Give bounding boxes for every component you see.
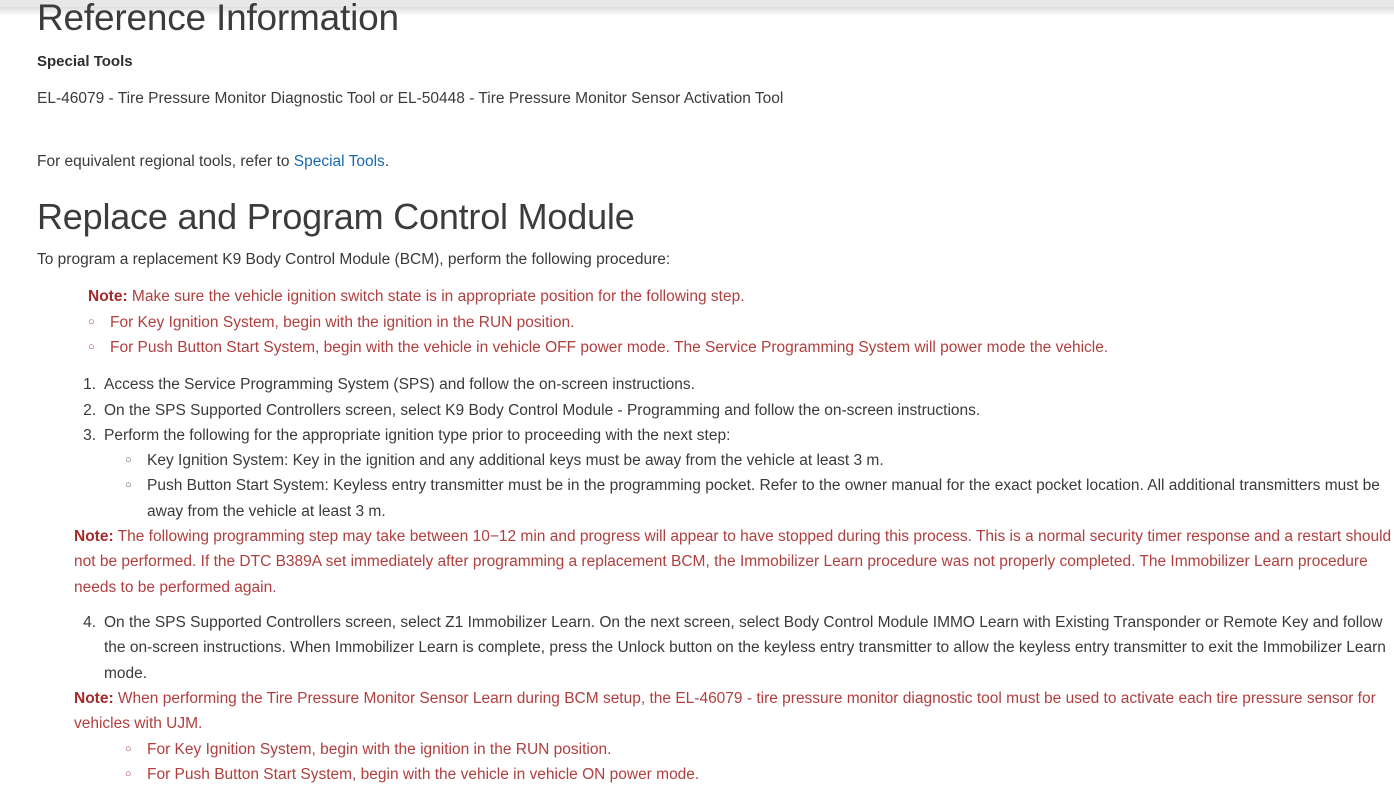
preamble-note-bullet-1: For Push Button Start System, begin with… [110, 339, 1108, 356]
preamble-note-bullet-0: For Key Ignition System, begin with the … [110, 314, 574, 331]
note-label: Note: [74, 528, 114, 545]
preamble-note-bullet-list: For Key Ignition System, begin with the … [37, 310, 1394, 361]
procedure-step-3: Perform the following for the appropriat… [74, 423, 1394, 600]
step-2-text: On the SPS Supported Controllers screen,… [104, 402, 980, 419]
document-content: Reference Information Special Tools EL-4… [0, 0, 1394, 787]
spacer [37, 111, 1394, 149]
step-4-text: On the SPS Supported Controllers screen,… [104, 614, 1386, 682]
note-label: Note: [88, 288, 128, 305]
step-3-text: Perform the following for the appropriat… [104, 427, 730, 444]
special-tools-link[interactable]: Special Tools [294, 153, 385, 170]
list-item: Push Button Start System: Keyless entry … [125, 473, 1394, 524]
equivalent-tools-suffix: . [385, 153, 389, 170]
step-4-note-bullet-0: For Key Ignition System, begin with the … [147, 741, 611, 758]
preamble-note-text: Make sure the vehicle ignition switch st… [132, 288, 745, 305]
preamble-note: Note: Make sure the vehicle ignition swi… [88, 284, 1394, 309]
list-item: For Push Button Start System, begin with… [125, 762, 1394, 787]
list-item: For Key Ignition System, begin with the … [88, 310, 1394, 335]
step-3-bullet-1: Push Button Start System: Keyless entry … [147, 477, 1380, 519]
equivalent-tools-paragraph: For equivalent regional tools, refer to … [37, 149, 1394, 174]
list-item: For Key Ignition System, begin with the … [125, 737, 1394, 762]
procedure-step-1: Access the Service Programming System (S… [74, 372, 1394, 397]
step-4-note-text: When performing the Tire Pressure Monito… [74, 690, 1376, 732]
procedure-intro: To program a replacement K9 Body Control… [37, 247, 1394, 272]
spacer [37, 237, 1394, 247]
step-3-bullet-0: Key Ignition System: Key in the ignition… [147, 452, 884, 469]
page-title: Reference Information [37, 0, 1394, 37]
list-item: For Push Button Start System, begin with… [88, 335, 1394, 360]
note-label: Note: [74, 690, 114, 707]
step-1-text: Access the Service Programming System (S… [104, 376, 695, 393]
step-4-note-bullet-1: For Push Button Start System, begin with… [147, 766, 699, 783]
preamble-note-line: Note: Make sure the vehicle ignition swi… [88, 284, 1310, 309]
equivalent-tools-prefix: For equivalent regional tools, refer to [37, 153, 294, 170]
step-3-note-text: The following programming step may take … [74, 528, 1391, 596]
spacer [37, 39, 1394, 53]
step-4-note-bullet-list: For Key Ignition System, begin with the … [104, 737, 1394, 788]
step-3-note: Note: The following programming step may… [74, 524, 1394, 600]
step-4-note: Note: When performing the Tire Pressure … [74, 686, 1394, 737]
list-item: Key Ignition System: Key in the ignition… [125, 448, 1394, 473]
section-title-replace-program: Replace and Program Control Module [37, 198, 1394, 237]
spacer [37, 70, 1394, 86]
procedure-step-2: On the SPS Supported Controllers screen,… [74, 398, 1394, 423]
special-tools-text: EL-46079 - Tire Pressure Monitor Diagnos… [37, 86, 1394, 111]
spacer [37, 360, 1394, 372]
procedure-step-4: On the SPS Supported Controllers screen,… [74, 610, 1394, 787]
spacer [37, 174, 1394, 198]
step-3-bullet-list: Key Ignition System: Key in the ignition… [104, 448, 1394, 524]
spacer [37, 272, 1394, 284]
special-tools-heading: Special Tools [37, 53, 1394, 70]
procedure-step-list: Access the Service Programming System (S… [37, 372, 1394, 787]
